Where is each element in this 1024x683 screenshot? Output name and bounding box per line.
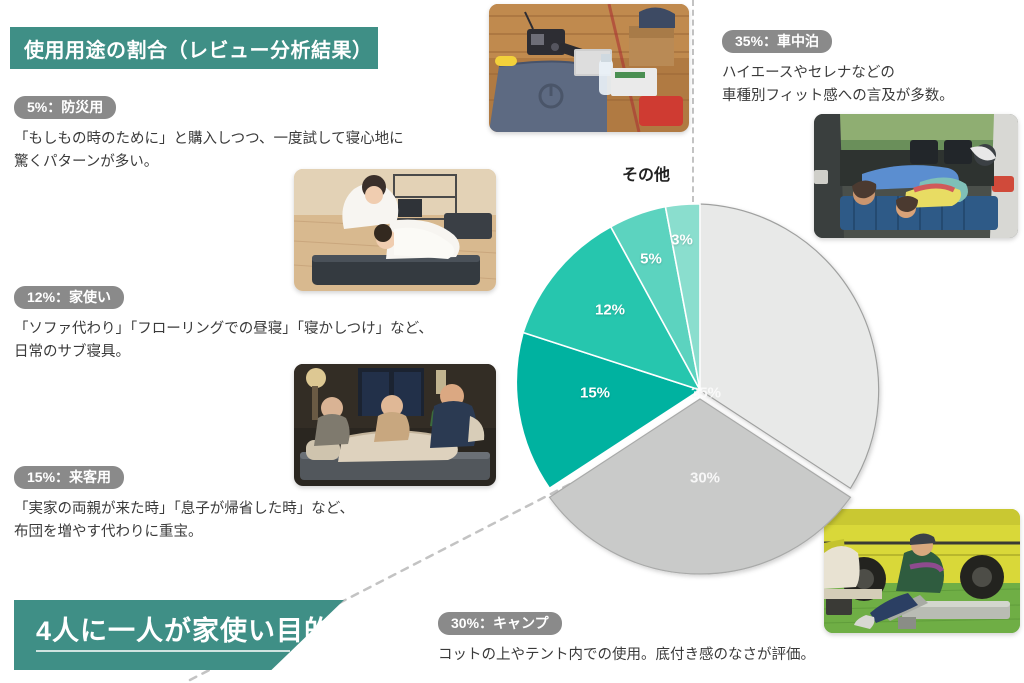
summary-banner-underline xyxy=(36,650,290,652)
summary-banner: 4人に一人が家使い目的 xyxy=(14,600,344,670)
callout-raikyaku-description: 「実家の両親が来た時」「息子が帰省した時」など、 布団を増やす代わりに重宝。 xyxy=(14,498,484,543)
callout-shachuhaku: 35%：車中泊 ハイエースやセレナなどの 車種別フィット感への言及が多数。 xyxy=(722,30,1022,107)
pie-label-5: 5% xyxy=(640,251,662,268)
status-badge-camp: 30%：キャンプ xyxy=(438,612,562,635)
infographic-canvas: 使用用途の割合（レビュー分析結果） 5%：防災用 「もしもの時のために」と購入し… xyxy=(0,0,1024,683)
photo-mother-child xyxy=(294,169,496,291)
callout-camp-description: コットの上やテント内での使用。底付き感のなさが評価。 xyxy=(438,644,938,666)
status-badge-bousai: 5%：防災用 xyxy=(14,96,116,119)
pie-label-12: 12% xyxy=(595,302,625,319)
callout-bousai: 5%：防災用 「もしもの時のために」と購入しつつ、一度試して寝心地に 驚くパター… xyxy=(14,96,484,173)
callout-bousai-description: 「もしもの時のために」と購入しつつ、一度試して寝心地に 驚くパターンが多い。 xyxy=(14,128,484,173)
page-title: 使用用途の割合（レビュー分析結果） xyxy=(10,34,373,63)
status-badge-ietsukai: 12%：家使い xyxy=(14,286,124,309)
summary-banner-text: 4人に一人が家使い目的 xyxy=(36,609,332,648)
pie-label-35: 35% xyxy=(691,385,721,402)
callout-ietsukai: 12%：家使い 「ソファ代わり」「フローリングでの昼寝」「寝かしつけ」など、 日… xyxy=(14,286,484,363)
status-badge-shachuhaku: 35%：車中泊 xyxy=(722,30,832,53)
vertical-dashed-divider xyxy=(692,0,694,202)
photo-disaster-kit xyxy=(489,4,689,132)
pie-chart: 35% 30% 15% 12% 5% 3% xyxy=(498,188,918,588)
callout-shachuhaku-description: ハイエースやセレナなどの 車種別フィット感への言及が多数。 xyxy=(722,62,1022,107)
callout-ietsukai-description: 「ソファ代わり」「フローリングでの昼寝」「寝かしつけ」など、 日常のサブ寝具。 xyxy=(14,318,484,363)
page-title-band: 使用用途の割合（レビュー分析結果） xyxy=(10,27,378,69)
pie-annotation-other: その他 xyxy=(622,161,670,185)
status-badge-raikyaku: 15%：来客用 xyxy=(14,466,124,489)
photo-guests-futon xyxy=(294,364,496,486)
pie-label-15: 15% xyxy=(580,385,610,402)
pie-label-3: 3% xyxy=(671,232,693,249)
pie-label-30: 30% xyxy=(690,470,720,487)
